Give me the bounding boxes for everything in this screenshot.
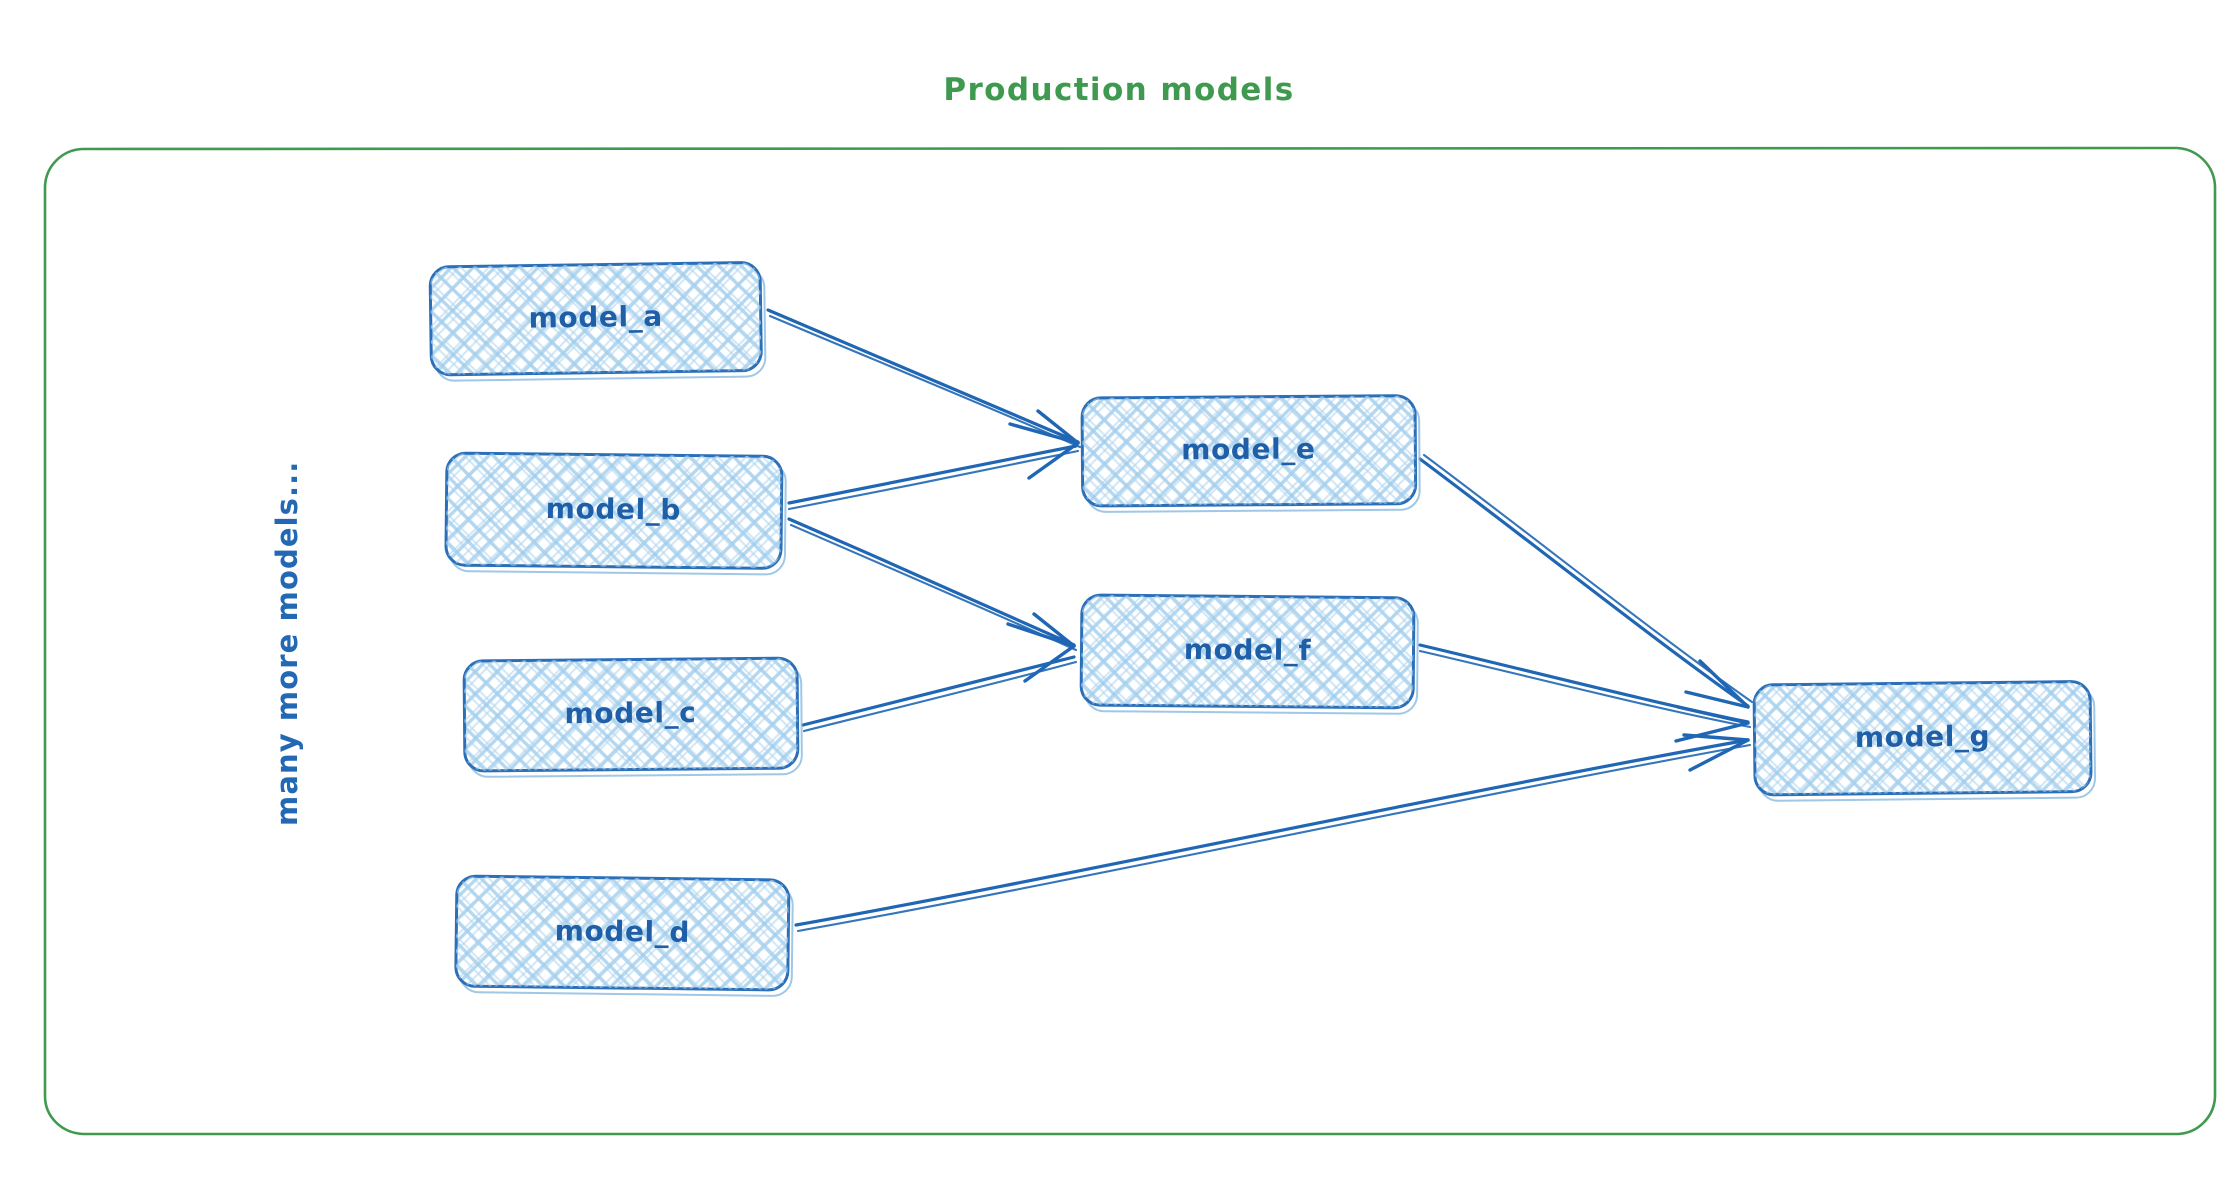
node-model-a[interactable]: model_a (430, 262, 766, 381)
node-model-f[interactable]: model_f (1081, 595, 1418, 714)
side-note-label: many more models... (270, 461, 304, 826)
edge-model-b-to-model-e (789, 446, 1078, 509)
node-label-model-a: model_a (528, 300, 663, 335)
node-label-model-d: model_d (554, 914, 690, 949)
diagram-svg: Production models many more models... (0, 0, 2240, 1188)
node-label-model-b: model_b (546, 492, 682, 526)
node-model-b[interactable]: model_b (446, 453, 786, 575)
node-label-model-e: model_e (1181, 432, 1315, 466)
edge-model-e-to-model-g (1420, 455, 1752, 707)
edge-model-c-to-model-f (803, 657, 1076, 731)
diagram-canvas: Production models many more models... (0, 0, 2240, 1188)
node-model-g[interactable]: model_g (1754, 681, 2095, 801)
node-label-model-f: model_f (1184, 633, 1312, 667)
node-model-d[interactable]: model_d (456, 876, 793, 996)
edge-model-b-to-model-f (789, 519, 1076, 681)
node-label-model-c: model_c (564, 696, 696, 730)
node-model-c[interactable]: model_c (464, 658, 802, 777)
edge-model-d-to-model-g (796, 735, 1750, 931)
side-note-many-more-models: many more models... (270, 461, 304, 826)
node-model-e[interactable]: model_e (1082, 396, 1420, 512)
node-label-model-g: model_g (1855, 720, 1991, 754)
edge-model-a-to-model-e (768, 310, 1080, 478)
page-title: Production models (943, 72, 1294, 108)
nodes-layer: model_a model_b model_c model (430, 262, 2095, 996)
